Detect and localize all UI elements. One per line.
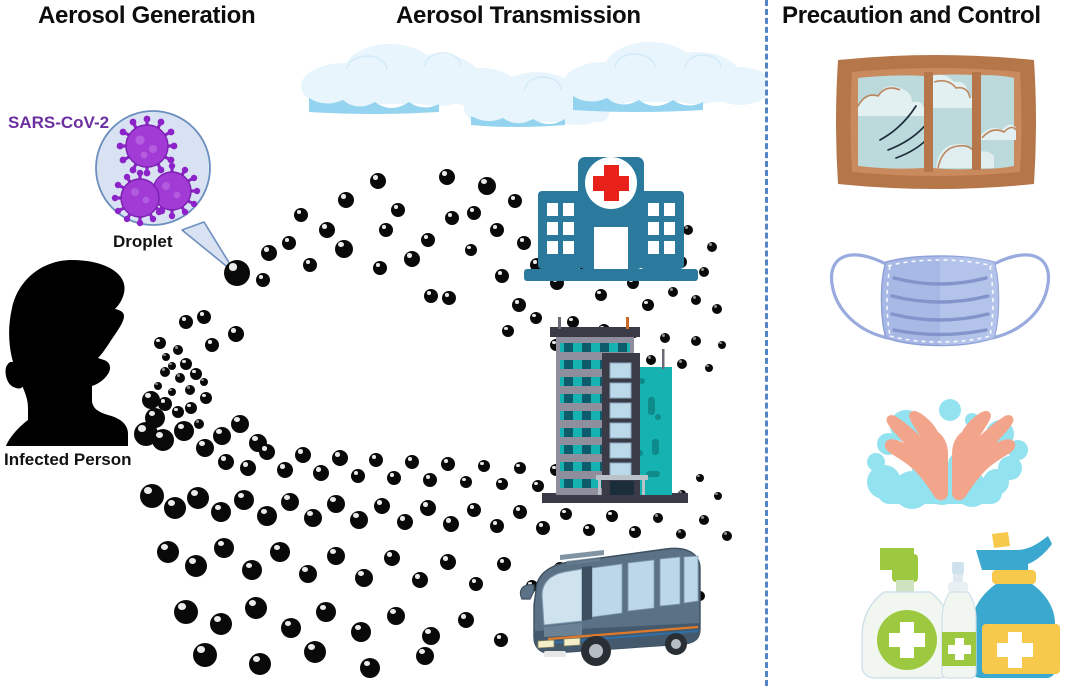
droplet xyxy=(440,554,456,570)
droplet xyxy=(160,367,170,377)
droplet xyxy=(295,447,311,463)
open-window-icon xyxy=(832,48,1040,196)
droplet xyxy=(196,439,214,457)
droplet xyxy=(240,460,256,476)
droplet xyxy=(224,260,250,286)
droplet xyxy=(211,502,231,522)
droplet xyxy=(299,565,317,583)
droplet xyxy=(536,521,550,535)
droplet xyxy=(214,538,234,558)
droplet xyxy=(445,211,459,225)
droplet xyxy=(154,382,162,390)
droplet xyxy=(218,454,234,470)
droplet xyxy=(277,462,293,478)
spray-bottle-small xyxy=(942,562,976,678)
droplet xyxy=(384,550,400,566)
droplet xyxy=(374,498,390,514)
droplet xyxy=(583,524,595,536)
droplet xyxy=(443,516,459,532)
droplet xyxy=(416,647,434,665)
droplet xyxy=(387,471,401,485)
droplet xyxy=(313,465,329,481)
droplet xyxy=(676,529,686,539)
droplet xyxy=(200,378,208,386)
droplet xyxy=(304,509,322,527)
droplet xyxy=(234,490,254,510)
droplet xyxy=(281,618,301,638)
droplet xyxy=(327,547,345,565)
bus-icon xyxy=(508,543,708,673)
droplet xyxy=(705,364,713,372)
droplet xyxy=(193,643,217,667)
droplet xyxy=(404,251,420,267)
droplet xyxy=(668,287,678,297)
droplet xyxy=(164,497,186,519)
droplet xyxy=(490,519,504,533)
droplet xyxy=(200,392,212,404)
droplet xyxy=(478,460,490,472)
droplet xyxy=(242,560,262,580)
droplet xyxy=(174,421,194,441)
droplet xyxy=(379,223,393,237)
office-building-icon xyxy=(540,313,690,505)
droplet xyxy=(397,514,413,530)
droplet xyxy=(270,542,290,562)
droplet xyxy=(469,577,483,591)
droplet xyxy=(707,242,717,252)
droplet xyxy=(467,206,481,220)
droplet xyxy=(595,289,607,301)
droplet xyxy=(228,326,244,342)
droplet xyxy=(319,222,335,238)
droplet xyxy=(187,487,209,509)
droplet xyxy=(210,613,232,635)
droplet xyxy=(304,641,326,663)
droplet xyxy=(282,236,296,250)
droplet xyxy=(714,492,722,500)
droplet xyxy=(696,474,704,482)
droplet xyxy=(478,177,496,195)
droplet xyxy=(154,337,166,349)
droplet xyxy=(642,299,654,311)
droplet xyxy=(467,503,481,517)
droplet xyxy=(152,429,174,451)
pump-bottle-white xyxy=(862,548,952,678)
figure-canvas: Aerosol Generation Aerosol Transmission … xyxy=(0,0,1080,686)
droplet xyxy=(441,457,455,471)
droplet xyxy=(180,358,192,370)
droplet xyxy=(249,653,271,675)
droplet xyxy=(205,338,219,352)
droplet xyxy=(173,345,183,355)
droplet xyxy=(370,173,386,189)
droplet xyxy=(514,462,526,474)
droplet xyxy=(442,291,456,305)
droplet xyxy=(439,169,455,185)
droplet xyxy=(629,526,641,538)
droplet xyxy=(168,388,176,396)
droplet xyxy=(391,203,405,217)
droplet xyxy=(245,597,267,619)
droplet xyxy=(653,513,663,523)
droplet xyxy=(360,658,380,678)
droplet xyxy=(405,455,419,469)
droplet xyxy=(281,493,299,511)
droplet xyxy=(350,511,368,529)
droplet xyxy=(142,391,160,409)
droplet xyxy=(496,478,508,490)
face-mask-icon xyxy=(824,240,1056,362)
droplet xyxy=(502,325,514,337)
droplet xyxy=(494,633,508,647)
droplet xyxy=(185,402,197,414)
droplet xyxy=(422,627,440,645)
droplet xyxy=(513,505,527,519)
droplet xyxy=(712,304,722,314)
droplet xyxy=(424,289,438,303)
droplet xyxy=(162,353,170,361)
droplet xyxy=(179,315,193,329)
droplet xyxy=(421,233,435,247)
droplet xyxy=(606,510,618,522)
droplet xyxy=(458,612,474,628)
droplet xyxy=(355,569,373,587)
droplet xyxy=(157,541,179,563)
droplet xyxy=(465,244,477,256)
droplet xyxy=(420,500,436,516)
droplet xyxy=(332,450,348,466)
droplet xyxy=(718,341,726,349)
droplet xyxy=(197,310,211,324)
droplet xyxy=(261,245,277,261)
droplet xyxy=(351,622,371,642)
droplet xyxy=(699,515,709,525)
droplet xyxy=(175,373,185,383)
spray-bottle-blue xyxy=(972,532,1060,678)
droplet xyxy=(338,192,354,208)
droplet xyxy=(294,208,308,222)
droplet xyxy=(560,508,572,520)
droplet xyxy=(490,223,504,237)
droplet xyxy=(351,469,365,483)
droplet xyxy=(174,600,198,624)
droplet xyxy=(316,602,336,622)
droplet xyxy=(303,258,317,272)
droplet xyxy=(423,473,437,487)
droplet xyxy=(512,298,526,312)
droplet xyxy=(327,495,345,513)
droplet xyxy=(259,444,275,460)
droplet xyxy=(172,406,184,418)
panel-title-precaution-control: Precaution and Control xyxy=(782,2,1041,30)
droplet xyxy=(460,476,472,488)
droplet xyxy=(231,415,249,433)
droplet xyxy=(185,385,195,395)
droplet xyxy=(412,572,428,588)
droplet xyxy=(495,269,509,283)
droplet xyxy=(691,336,701,346)
droplet xyxy=(256,273,270,287)
droplet xyxy=(257,506,277,526)
sanitizer-icon xyxy=(856,524,1072,680)
hand-washing-icon xyxy=(850,398,1050,510)
droplet xyxy=(185,555,207,577)
droplet xyxy=(194,419,204,429)
hospital-icon xyxy=(518,143,704,283)
droplet xyxy=(722,531,732,541)
droplet xyxy=(387,607,405,625)
droplet xyxy=(369,453,383,467)
droplet xyxy=(373,261,387,275)
droplet xyxy=(691,295,701,305)
droplet xyxy=(335,240,353,258)
droplet xyxy=(213,427,231,445)
droplet xyxy=(140,484,164,508)
